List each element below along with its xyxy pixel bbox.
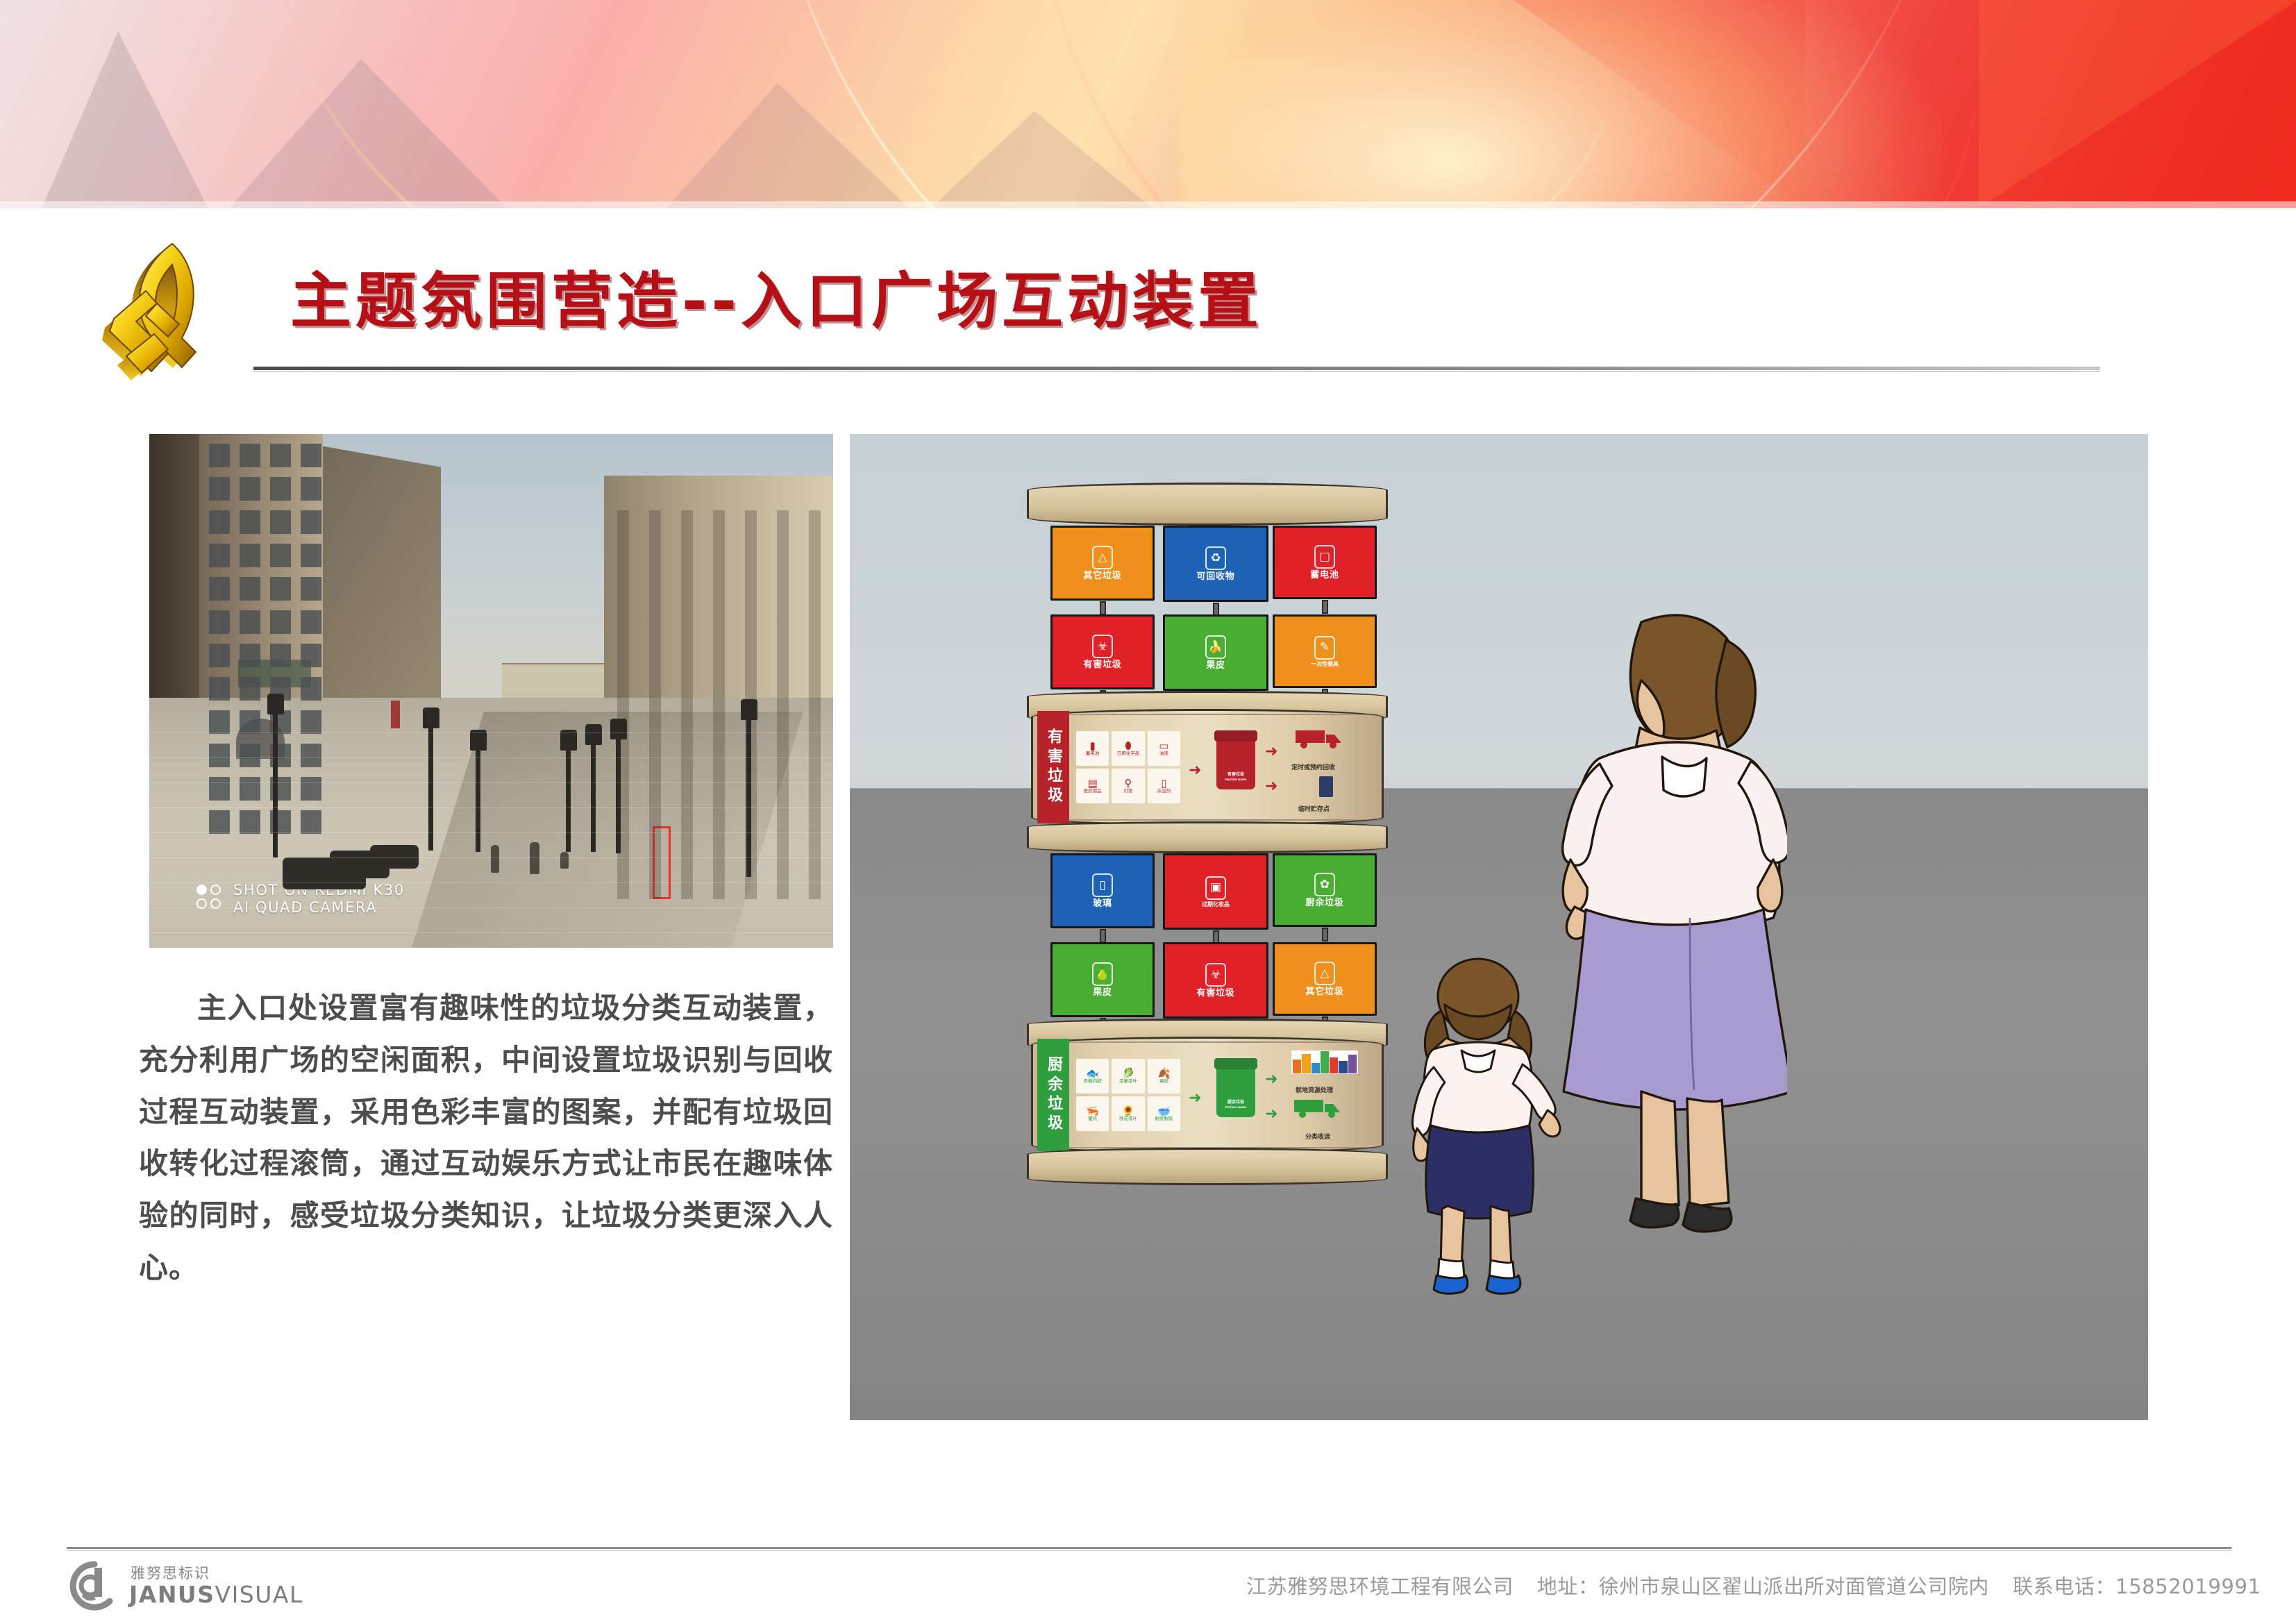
fruit-peel-icon: 🍌 [1205, 635, 1226, 659]
cube-spacer [1322, 928, 1328, 941]
drum-item-icon: ▯ [1161, 778, 1166, 789]
bin-label-en: Harmful waste [1225, 778, 1247, 781]
photo-window [301, 644, 321, 667]
waste-cube-3-2[interactable]: △其它垃圾 [1273, 942, 1377, 1016]
drum-dest-0-0: 定时或预约回收 [1291, 762, 1335, 771]
description-paragraph: 主入口处设置富有趣味性的垃圾分类互动装置，充分利用广场的空闲面积，中间设置垃圾识… [139, 982, 833, 1294]
photo-lamp-head-4 [585, 724, 602, 745]
photo-window [209, 777, 230, 801]
cube-side-face [1266, 853, 1268, 930]
janus-circle-icon [69, 1561, 119, 1611]
photo-window [209, 610, 230, 634]
drum-item-0-5: ▯杀虫剂 [1148, 769, 1180, 803]
waste-cube-label: 有害垃圾 [1196, 989, 1234, 998]
drum-dest-1-1: 分类收运 [1305, 1132, 1330, 1141]
header-banner [0, 0, 2296, 208]
drum-bin-0: 有害垃圾Harmful waste [1216, 738, 1255, 789]
mother-figure [1558, 604, 1787, 1305]
photo-window [301, 510, 321, 534]
photo-window [209, 544, 230, 567]
waste-cube-label: 蓄电池 [1310, 571, 1339, 580]
photo-window [270, 477, 291, 501]
photo-lamp-head-0 [267, 694, 284, 714]
drum-item-icon: 🦐 [1086, 1106, 1099, 1116]
logo-chinese-name: 雅努思标识 [131, 1566, 303, 1581]
photo-pavement-line [149, 882, 833, 883]
city-skyline-icon [1291, 1050, 1358, 1074]
photo-pedestrian-1 [530, 842, 539, 874]
peel-icon: 🍐 [1092, 962, 1113, 986]
photo-pavement-line [149, 757, 833, 758]
photo-street-lamp-6 [746, 717, 751, 877]
cube-side-face [1266, 526, 1268, 602]
photo-pavement-line [149, 857, 833, 858]
photo-pedestrian-0 [491, 845, 499, 873]
drum-item-grid-1: 🐟骨骼内脏🥬菜梗菜叶🍂果皮🦐蟹壳🌻残花落叶🥣剩菜剩饭 [1076, 1059, 1180, 1131]
photo-column [777, 510, 789, 899]
waste-cube-label: 其它垃圾 [1305, 987, 1343, 996]
photo-window [301, 544, 321, 567]
footer-phone: 联系电话：15852019991 [2013, 1571, 2261, 1600]
photo-window [301, 677, 321, 701]
photo-window [270, 444, 291, 467]
photo-street-lamp-4 [591, 742, 596, 852]
drum-item-0-2: ▭油漆 [1148, 731, 1180, 766]
waste-cube-1-1[interactable]: 🍌果皮 [1163, 614, 1268, 691]
photo-window [240, 477, 260, 501]
photo-window [240, 810, 260, 834]
drum-item-icon: 🥬 [1122, 1069, 1135, 1079]
drum-item-1-3: 🦐蟹壳 [1076, 1096, 1109, 1131]
photo-window [209, 677, 230, 701]
camera-lenses-icon [196, 885, 224, 914]
photo-window [209, 510, 230, 534]
drum-item-icon: 🥣 [1157, 1106, 1171, 1116]
kitchen-waste-icon: ✿ [1314, 873, 1335, 896]
photo-street-lamp-2 [476, 748, 480, 852]
other-waste-icon: △ [1092, 546, 1113, 569]
photo-column [649, 510, 661, 899]
photo-window [301, 777, 321, 801]
drum-item-0-4: ⚲灯管 [1112, 769, 1144, 803]
photo-red-banner [391, 701, 400, 728]
photo-window [301, 810, 321, 834]
site-photo: SHOT ON REDMI K30 AI QUAD CAMERA [149, 434, 833, 948]
expired-cosmetics-icon: ▣ [1205, 876, 1226, 900]
drum-dest-0-1: 临时贮存点 [1298, 804, 1330, 813]
tower-mid-disc-lower [1027, 821, 1388, 853]
footer-company: 江苏雅努思环境工程有限公司 [1246, 1571, 1514, 1600]
drum-item-icon: ⚲ [1124, 778, 1132, 789]
disposable-tableware-icon: ✎ [1314, 636, 1335, 660]
cpc-hammer-sickle-icon [90, 237, 246, 386]
drum-item-0-3: ▤医药用品 [1076, 769, 1109, 803]
photo-window [209, 644, 230, 667]
footer-divider [67, 1547, 2231, 1549]
waste-cube-2-1[interactable]: ▣过期化妆品 [1163, 853, 1268, 930]
drum-bin-1: 厨余垃圾Kitchen waste [1216, 1066, 1255, 1117]
photo-window [209, 577, 230, 601]
title-row: 主题氛围营造--入口广场互动装置 [0, 233, 2296, 392]
drum-item-label: 剩菜剩饭 [1155, 1117, 1173, 1122]
photo-window [301, 444, 321, 467]
waste-cube-label: 可回收物 [1196, 572, 1234, 581]
photo-window [209, 710, 230, 734]
drum-item-icon: 🐟 [1086, 1069, 1099, 1079]
photo-window [270, 577, 291, 601]
drum-item-label: 果皮 [1159, 1080, 1168, 1085]
cube-side-face [1375, 853, 1377, 927]
photo-column [809, 510, 821, 899]
photo-window [301, 744, 321, 767]
cube-spacer [1322, 600, 1328, 614]
photo-street-lamp-3 [566, 748, 571, 852]
cube-side-face [1153, 942, 1155, 1017]
drum-item-label: 菜梗菜叶 [1119, 1080, 1137, 1085]
photo-window [270, 544, 291, 567]
cube-side-face [1375, 526, 1377, 599]
cube-side-face [1153, 526, 1155, 601]
bin-label-cn: 厨余垃圾Kitchen waste [1225, 1100, 1246, 1110]
drum-item-label: 蓄电池 [1086, 752, 1100, 757]
waste-cube-3-0[interactable]: 🍐果皮 [1050, 942, 1155, 1017]
drum-item-label: 医药用品 [1084, 789, 1102, 794]
photo-window [240, 777, 260, 801]
waste-cube-label: 厨余垃圾 [1305, 898, 1343, 907]
waste-cube-label: 玻璃 [1093, 899, 1112, 908]
harmful-waste-drum: 有害垃圾▮蓄电池⬮日用化学品▭油漆▤医药用品⚲灯管▯杀虫剂➜有害垃圾Harmfu… [1031, 709, 1384, 826]
cube-side-face [1266, 942, 1268, 1019]
photo-lamp-head-1 [423, 708, 439, 728]
cube-side-face [1375, 942, 1377, 1016]
drum-item-grid-0: ▮蓄电池⬮日用化学品▭油漆▤医药用品⚲灯管▯杀虫剂 [1076, 731, 1180, 803]
waste-cube-1-2[interactable]: ✎一次性餐具 [1273, 614, 1377, 688]
waste-cube-label: 过期化妆品 [1202, 902, 1230, 907]
photo-lamp-head-6 [741, 699, 757, 720]
photo-window [240, 610, 260, 634]
waste-cube-1-0[interactable]: ☣有害垃圾 [1050, 614, 1155, 689]
drum-item-label: 油漆 [1159, 752, 1168, 757]
photo-scooter-2 [370, 845, 419, 869]
footer-address: 地址：徐州市泉山区翟山派出所对面管道公司院内 [1537, 1571, 1989, 1600]
banner-base-fade [0, 201, 2296, 208]
photo-window [240, 577, 260, 601]
cube-side-face [1153, 853, 1155, 928]
drum-item-label: 灯管 [1123, 789, 1132, 794]
cube-spacer [1100, 601, 1106, 615]
drum-band-label-0: 有害垃圾 [1037, 711, 1069, 823]
logo-en-light: VISUAL [215, 1581, 303, 1608]
harmful-waste-icon: ☣ [1205, 963, 1226, 987]
photo-window [209, 810, 230, 834]
photo-window [301, 477, 321, 501]
drum-item-label: 残花落叶 [1119, 1117, 1137, 1122]
waste-cube-0-0[interactable]: △其它垃圾 [1050, 526, 1155, 601]
harmful-waste-icon: ☣ [1092, 635, 1113, 658]
photo-lamp-head-5 [610, 719, 627, 739]
drum-arrow-b-0: ➜ [1265, 778, 1277, 794]
glass-bottle-icon: ▯ [1092, 873, 1113, 897]
photo-window [301, 577, 321, 601]
drum-item-0-1: ⬮日用化学品 [1112, 731, 1144, 766]
photo-window [209, 477, 230, 501]
recyclable-icon: ♻ [1205, 546, 1226, 570]
waste-cube-label: 有害垃圾 [1083, 660, 1121, 669]
drum-item-icon: 🌻 [1122, 1106, 1135, 1116]
collection-truck-icon [1296, 728, 1346, 748]
photo-window [209, 744, 230, 767]
drum-arrow-a-0: ➜ [1265, 744, 1277, 759]
temporary-storage-icon [1319, 776, 1333, 797]
drum-arrow-in-0: ➜ [1189, 762, 1201, 778]
photo-window [301, 710, 321, 734]
other-waste-icon: △ [1314, 962, 1335, 985]
bin-label-cn: 有害垃圾Harmful waste [1225, 773, 1247, 782]
waste-cube-label: 果皮 [1093, 988, 1112, 997]
cube-side-face [1375, 614, 1377, 688]
bin-label-en: Kitchen waste [1225, 1105, 1246, 1109]
drum-item-label: 骨骼内脏 [1084, 1080, 1102, 1085]
drum-item-icon: ⬮ [1125, 741, 1131, 751]
drum-item-0-0: ▮蓄电池 [1076, 731, 1109, 766]
drum-item-1-2: 🍂果皮 [1148, 1059, 1180, 1094]
photo-window [240, 744, 260, 767]
photo-pavement-line [149, 807, 833, 808]
tower-base-disc [1027, 1148, 1388, 1185]
battery-icon: ▢ [1314, 545, 1335, 569]
waste-cube-label: 一次性餐具 [1311, 662, 1339, 667]
photo-pavement-line [149, 832, 833, 833]
photo-window [270, 610, 291, 634]
photo-window [301, 610, 321, 634]
waste-sorting-tower: △其它垃圾♻可回收物▢蓄电池☣有害垃圾🍌果皮✎一次性餐具有害垃圾▮蓄电池⬮日用化… [1027, 483, 1388, 1198]
drum-band-label-1: 厨余垃圾 [1037, 1039, 1069, 1151]
drum-arrow-in-1: ➜ [1189, 1090, 1201, 1105]
photo-window [270, 510, 291, 534]
photo-street-lamp-5 [616, 737, 621, 853]
photo-pavement-line [149, 782, 833, 783]
drum-arrow-a-1: ➜ [1265, 1071, 1277, 1087]
drum-item-icon: ▭ [1159, 741, 1168, 751]
drum-item-label: 杀虫剂 [1157, 789, 1171, 794]
banner-ribbon-4 [1012, 0, 2296, 208]
photo-window [240, 644, 260, 667]
cube-spacer [1100, 929, 1106, 943]
waste-cube-label: 果皮 [1206, 661, 1225, 670]
drum-item-1-5: 🥣剩菜剩饭 [1148, 1096, 1180, 1131]
drum-item-icon: 🍂 [1157, 1069, 1171, 1079]
drum-item-icon: ▤ [1088, 778, 1098, 789]
drum-arrow-b-1: ➜ [1265, 1106, 1277, 1121]
drum-item-icon: ▮ [1090, 741, 1096, 751]
drum-dest-1-0: 就地资源处理 [1296, 1085, 1333, 1094]
photo-window [240, 544, 260, 567]
janus-visual-logo: 雅努思标识 JANUSVISUAL [69, 1561, 303, 1611]
photo-window [240, 510, 260, 534]
photo-column [681, 510, 693, 899]
waste-cube-label: 其它垃圾 [1083, 571, 1121, 580]
drum-item-1-4: 🌻残花落叶 [1112, 1096, 1144, 1131]
logo-en-bold: JANUS [129, 1581, 215, 1608]
photo-window [240, 677, 260, 701]
kitchen-waste-drum: 厨余垃圾🐟骨骼内脏🥬菜梗菜叶🍂果皮🦐蟹壳🌻残花落叶🥣剩菜剩饭➜厨余垃圾Kitch… [1031, 1037, 1384, 1153]
photo-pavement-line [149, 733, 833, 733]
footer-divider-shadow [67, 1550, 2231, 1551]
waste-cube-2-2[interactable]: ✿厨余垃圾 [1273, 853, 1377, 927]
drum-item-1-0: 🐟骨骼内脏 [1076, 1059, 1109, 1094]
photo-column [713, 510, 725, 899]
cube-side-face [1266, 614, 1268, 691]
girl-figure [1402, 892, 1561, 1309]
footer-contact-info: 江苏雅努思环境工程有限公司 地址：徐州市泉山区翟山派出所对面管道公司院内 联系电… [1246, 1571, 2261, 1600]
photo-street-lamp-1 [428, 726, 433, 851]
photo-window [240, 710, 260, 734]
drum-item-label: 蟹壳 [1088, 1117, 1097, 1122]
photo-pavement-line [149, 932, 833, 933]
sorted-collection-truck-icon [1294, 1097, 1344, 1118]
photo-window [209, 444, 230, 467]
cube-side-face [1153, 614, 1155, 689]
waste-cube-3-1[interactable]: ☣有害垃圾 [1163, 942, 1268, 1019]
tower-top-disc [1027, 483, 1388, 526]
page-title: 主题氛围营造--入口广场互动装置 [290, 252, 1263, 340]
waste-cube-2-0[interactable]: ▯玻璃 [1050, 853, 1155, 928]
photo-window [270, 644, 291, 667]
render-3d-view: △其它垃圾♻可回收物▢蓄电池☣有害垃圾🍌果皮✎一次性餐具有害垃圾▮蓄电池⬮日用化… [850, 434, 2148, 1420]
photo-pedestrian-2 [560, 852, 569, 869]
photo-street-lamp-0 [273, 712, 278, 857]
photo-window [240, 444, 260, 467]
waste-cube-0-1[interactable]: ♻可回收物 [1163, 526, 1268, 602]
drum-item-label: 日用化学品 [1117, 752, 1140, 757]
drum-item-1-1: 🥬菜梗菜叶 [1112, 1059, 1144, 1094]
title-divider [253, 367, 2100, 370]
title-divider-shadow [253, 371, 2100, 372]
photo-pavement-line [149, 907, 833, 908]
waste-cube-0-2[interactable]: ▢蓄电池 [1273, 526, 1377, 599]
